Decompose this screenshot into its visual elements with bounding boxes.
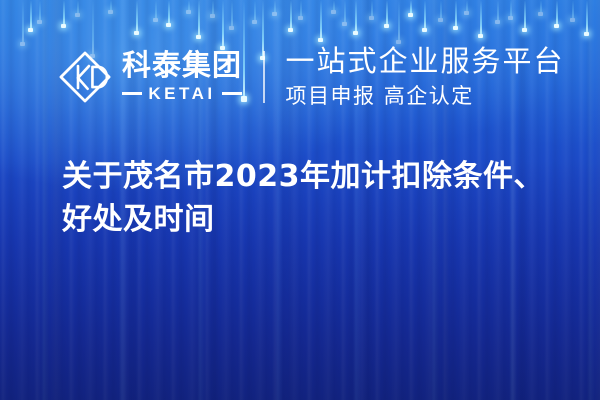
light-streak [290, 0, 292, 30]
light-streak [254, 0, 256, 22]
light-streak-tip [422, 28, 427, 33]
light-streak [300, 0, 302, 18]
wordmark-rule-right [222, 92, 242, 95]
light-streak-tip [331, 10, 336, 15]
light-streak [424, 0, 426, 30]
light-streak [440, 0, 442, 20]
light-streak [480, 0, 482, 36]
light-streak [231, 0, 233, 28]
light-streak [510, 0, 512, 18]
light-streak [556, 0, 558, 26]
tagline-primary: 一站式企业服务平台 [286, 45, 565, 78]
tagline-secondary: 项目申报 高企认定 [286, 83, 565, 109]
header-divider [263, 51, 265, 103]
light-streak-tip [37, 20, 42, 25]
light-streak-tip [453, 26, 458, 31]
light-streak-tip [464, 11, 469, 16]
light-streak-tip [508, 16, 513, 21]
light-streak-tip [252, 20, 257, 25]
brand-header: 科泰集团 KETAI 一站式企业服务平台 项目申报 高企认定 [0, 33, 600, 121]
light-streak-tip [522, 28, 527, 33]
ketai-diamond-monogram-icon [57, 49, 113, 105]
light-streak [586, 0, 588, 34]
light-streak-tip [288, 28, 293, 33]
light-streak-tip [272, 12, 277, 17]
light-streak [110, 0, 112, 12]
brand-name-en: KETAI [148, 84, 215, 104]
light-streak-tip [495, 20, 500, 25]
light-streak [39, 0, 41, 22]
light-streak-tip [153, 18, 158, 23]
light-streak [371, 0, 373, 18]
light-streak [77, 0, 79, 15]
light-streak [198, 0, 200, 37]
light-streak [274, 0, 276, 14]
light-streak-tip [369, 16, 374, 21]
light-streak [386, 0, 388, 26]
light-streak [524, 0, 526, 30]
brand-name-cn: 科泰集团 [122, 50, 242, 80]
light-streak-tip [554, 24, 559, 29]
light-streak [155, 0, 157, 20]
page-title: 关于茂名市2023年加计扣除条件、好处及时间 [62, 156, 562, 241]
light-streak [333, 0, 335, 12]
light-streak [188, 0, 190, 12]
light-streak [344, 0, 346, 24]
light-streak-tip [108, 10, 113, 15]
light-streak [410, 0, 412, 15]
light-streak-tip [538, 12, 543, 17]
light-streak-tip [166, 23, 171, 28]
light-streak-tip [229, 26, 234, 31]
light-streak-tip [186, 10, 191, 15]
light-streak [212, 0, 214, 16]
light-streak-tip [28, 28, 33, 33]
brand-logo: 科泰集团 KETAI [57, 49, 242, 105]
light-streak-tip [75, 13, 80, 18]
light-streak-tip [408, 13, 413, 18]
light-streak [572, 0, 574, 20]
light-streak-tip [570, 18, 575, 23]
brand-tagline: 一站式企业服务平台 项目申报 高企认定 [286, 45, 565, 109]
light-streak-tip [61, 24, 66, 29]
light-streak [136, 0, 138, 33]
light-streak-tip [210, 14, 215, 19]
light-streak [355, 0, 357, 33]
light-streak [497, 0, 499, 22]
light-streak-tip [438, 18, 443, 23]
wordmark-rule-left [122, 92, 142, 95]
light-streak [455, 0, 457, 28]
light-streak-tip [384, 24, 389, 29]
light-streak [168, 0, 170, 25]
light-streak [63, 0, 65, 26]
light-streak-tip [342, 22, 347, 27]
light-streak [30, 0, 32, 30]
brand-name-en-row: KETAI [122, 84, 242, 104]
light-streak [540, 0, 542, 14]
brand-wordmark: 科泰集团 KETAI [122, 50, 242, 103]
promo-poster: 科泰集团 KETAI 一站式企业服务平台 项目申报 高企认定 关于茂名市2023… [0, 0, 600, 400]
light-streak-tip [298, 16, 303, 21]
light-streak [466, 0, 468, 13]
